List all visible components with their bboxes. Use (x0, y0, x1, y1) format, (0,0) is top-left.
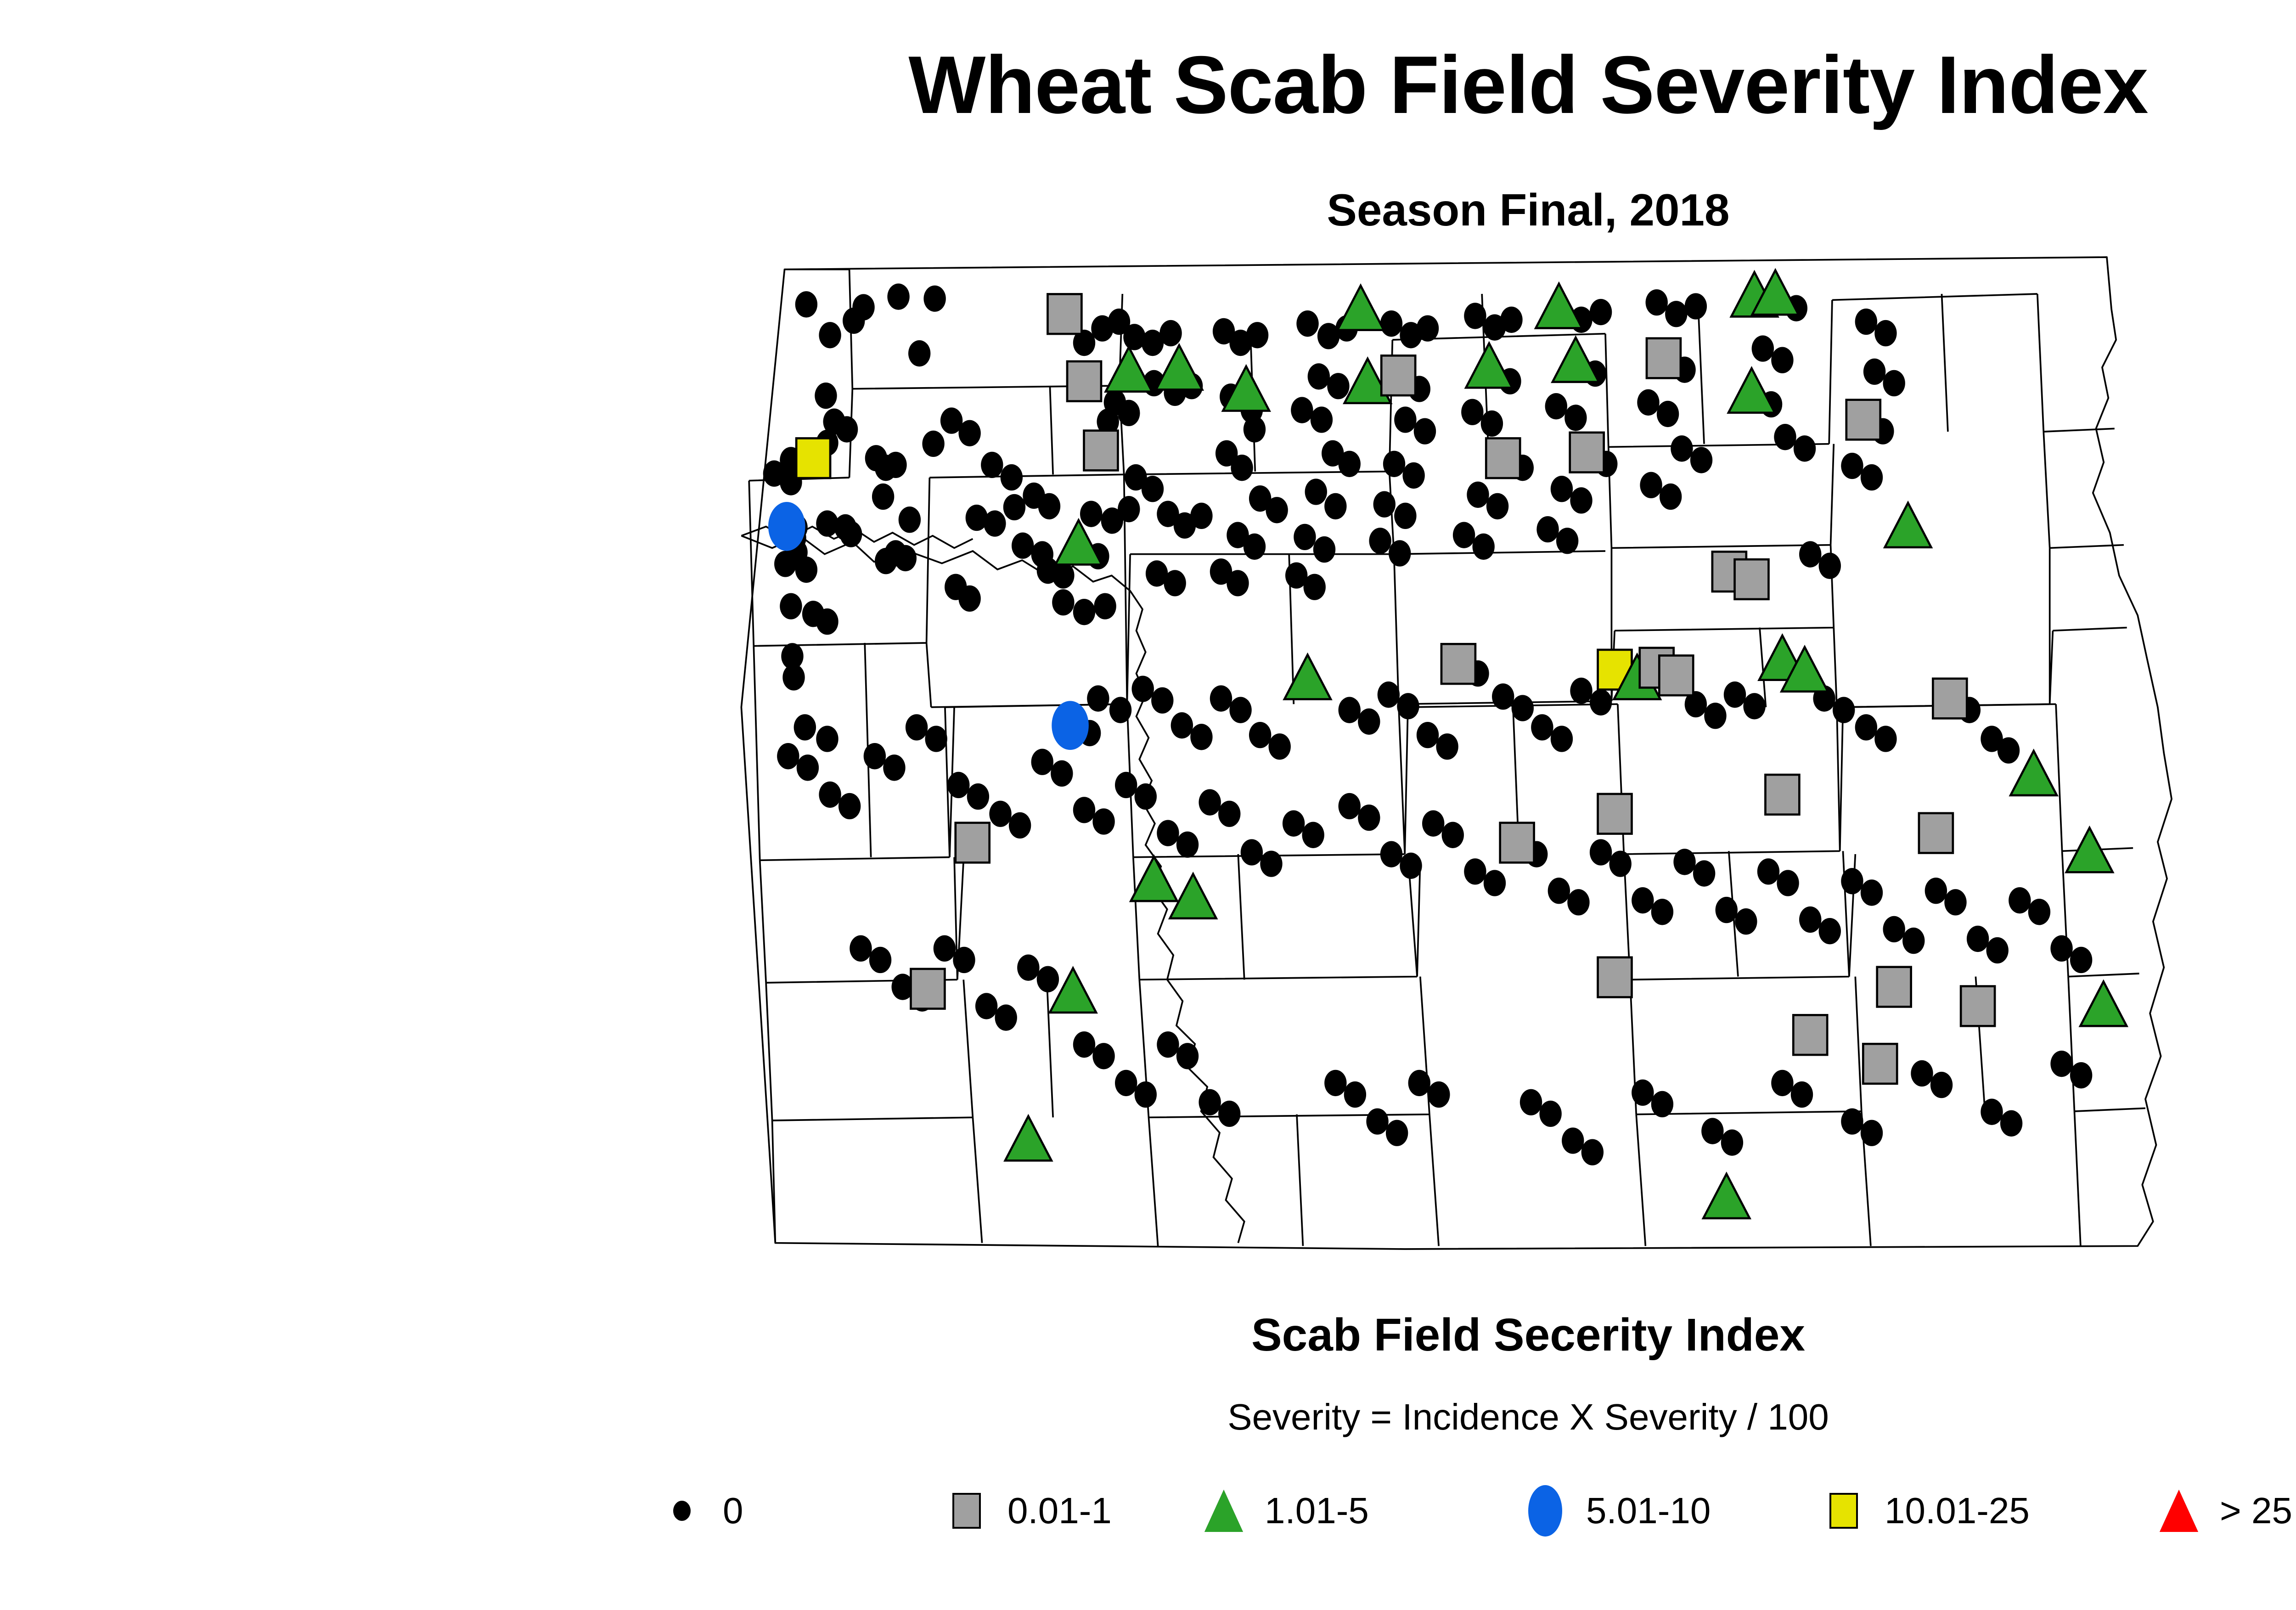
map-point-0 (1380, 841, 1402, 867)
map-point-5-01-10 (768, 502, 805, 551)
legend-item-label: 10.01-25 (1885, 1490, 2030, 1532)
map-point-0-01-1 (1047, 294, 1081, 334)
map-point-0 (958, 420, 980, 446)
map-point-0-01-1 (1500, 823, 1534, 863)
map-point-0 (1520, 1089, 1542, 1115)
map-point-1-01-5 (1170, 874, 1216, 918)
map-point-1-01-5 (1466, 343, 1512, 388)
map-point-0 (1283, 811, 1305, 837)
map-point-0 (884, 452, 906, 478)
map-point-0 (1861, 464, 1883, 490)
legend-item-2[interactable]: 1.01-5 (1194, 1474, 1369, 1548)
map-point-0 (1570, 678, 1592, 704)
map-point-0 (1092, 808, 1114, 834)
map-point-0 (1003, 494, 1025, 520)
map-point-0 (1311, 406, 1333, 433)
map-point-0 (1417, 315, 1439, 341)
map-point-0 (922, 431, 944, 457)
map-point-0-01-1 (1919, 813, 1953, 853)
map-point-0 (1246, 322, 1268, 348)
legend: 00.01-11.01-55.01-1010.01-25> 25 (652, 1474, 2296, 1552)
map-point-0 (887, 283, 909, 310)
map-point-0 (1467, 482, 1489, 508)
map-point-0 (1313, 536, 1335, 563)
map-point-0 (1564, 405, 1587, 431)
map-point-0 (1925, 878, 1947, 904)
map-point-0 (780, 593, 802, 619)
circle-small-icon (652, 1481, 712, 1541)
map-point-0 (794, 714, 816, 740)
figure-canvas: Wheat Scab Field Severity Index Season F… (0, 0, 2296, 1610)
map-point-0 (797, 754, 819, 781)
map-point-0-01-1 (1067, 361, 1101, 401)
map-point-0 (1685, 293, 1707, 319)
map-point-0 (1590, 689, 1612, 715)
map-point-0 (1227, 570, 1249, 596)
map-point-0-01-1 (1659, 655, 1693, 695)
map-point-0 (1640, 472, 1662, 498)
map-point-0 (1073, 797, 1095, 823)
map-point-0 (1244, 534, 1266, 560)
map-point-0 (1883, 370, 1905, 396)
map-point-0 (1115, 772, 1137, 798)
map-point-0-01-1 (1381, 355, 1415, 395)
map-point-0 (967, 783, 989, 810)
map-point-0 (1159, 320, 1182, 346)
legend-item-label: 0 (723, 1490, 743, 1532)
map-point-0 (1986, 937, 2008, 963)
map-point-0 (1735, 908, 1757, 934)
map-point-0 (1164, 570, 1186, 596)
map-point-0 (1548, 878, 1570, 904)
map-point-0 (850, 935, 872, 962)
legend-item-label: 5.01-10 (1586, 1490, 1711, 1532)
map-point-0 (1244, 416, 1266, 442)
map-point-0 (1673, 849, 1695, 875)
map-point-0 (1402, 462, 1424, 489)
triangle-icon (2149, 1481, 2209, 1541)
map-point-1-01-5 (1338, 286, 1384, 330)
map-point-0 (1724, 681, 1746, 708)
triangle-icon (1194, 1481, 1254, 1541)
map-point-0 (1339, 451, 1361, 477)
map-point-0 (1305, 478, 1327, 505)
map-point-0 (1646, 289, 1668, 315)
map-point-0 (1037, 966, 1059, 992)
map-point-0 (1190, 503, 1212, 529)
map-point-0 (1087, 685, 1109, 711)
map-point-0-01-1 (1598, 794, 1632, 834)
map-point-0 (1911, 1060, 1933, 1086)
map-point-0 (1249, 722, 1271, 748)
map-point-0 (2028, 899, 2050, 925)
map-point-0-01-1 (1961, 986, 1995, 1026)
map-point-0 (1218, 801, 1240, 827)
map-point-0 (1944, 889, 1966, 915)
map-point-0 (2050, 1051, 2072, 1077)
map-point-0 (1861, 1120, 1883, 1146)
map-point-1-01-5 (1005, 1116, 1052, 1161)
map-point-0 (1855, 309, 1877, 335)
map-point-0 (1358, 709, 1380, 735)
map-point-0 (1073, 599, 1095, 625)
map-point-0 (864, 743, 886, 769)
map-point-0 (1386, 1120, 1408, 1146)
map-point-0-01-1 (1441, 644, 1475, 684)
map-point-0 (1171, 712, 1193, 738)
map-point-0 (906, 714, 928, 740)
map-point-0 (1176, 1043, 1199, 1069)
map-point-0 (1551, 476, 1573, 502)
map-point-0 (1073, 1031, 1095, 1058)
map-point-0 (1009, 812, 1031, 839)
map-point-0 (1581, 1139, 1604, 1165)
map-point-0 (989, 801, 1011, 827)
map-point-0 (1324, 1070, 1346, 1096)
map-point-0 (1657, 401, 1679, 427)
map-point-0-01-1 (1846, 400, 1880, 440)
map-point-0 (1716, 897, 1738, 923)
map-point-0 (1417, 722, 1439, 748)
map-point-0 (1436, 733, 1458, 760)
legend-item-3[interactable]: 5.01-10 (1515, 1474, 1711, 1548)
map-point-0 (1486, 493, 1508, 519)
map-point-0 (1721, 1130, 1743, 1156)
map-point-0 (923, 286, 945, 312)
map-point-0 (1051, 760, 1073, 787)
map-point-0 (1296, 310, 1318, 337)
map-point-0 (1422, 811, 1444, 837)
map-point-0-01-1 (1486, 438, 1520, 478)
map-point-0 (774, 551, 796, 577)
map-point-0-01-1 (1765, 775, 1799, 815)
map-point-0 (1774, 424, 1796, 450)
map-point-0 (1080, 501, 1102, 527)
map-point-0 (1092, 1043, 1114, 1069)
map-point-0 (1151, 687, 1173, 714)
map-point-0 (1665, 301, 1687, 327)
map-point-0 (1551, 726, 1573, 752)
map-point-0 (1408, 1070, 1430, 1096)
map-point-1-01-5 (1055, 520, 1102, 565)
map-point-0 (2000, 1110, 2022, 1137)
map-point-0 (819, 782, 841, 808)
map-point-0 (1693, 860, 1715, 886)
map-point-0-01-1 (1863, 1044, 1897, 1084)
map-point-0 (838, 793, 861, 819)
map-point-0 (1863, 359, 1885, 385)
map-point-0 (981, 452, 1003, 478)
map-point-0 (1902, 928, 1925, 954)
legend-item-label: > 25 (2220, 1490, 2292, 1532)
map-point-0 (1218, 1101, 1240, 1127)
map-point-0 (947, 772, 969, 798)
map-point-0-01-1 (1570, 433, 1604, 473)
map-point-0 (1512, 695, 1534, 721)
map-point-0 (1291, 397, 1313, 423)
map-point-0 (1094, 593, 1116, 619)
map-point-0 (819, 322, 841, 348)
map-point-0 (1142, 476, 1164, 502)
map-point-0-01-1 (1735, 559, 1769, 599)
map-point-0 (1472, 534, 1494, 560)
map-point-0 (1302, 822, 1324, 848)
map-point-0 (872, 484, 894, 510)
map-point-0 (1115, 1070, 1137, 1096)
map-point-0 (1841, 868, 1863, 894)
map-point-0 (1632, 1080, 1654, 1106)
map-point-0 (1632, 887, 1654, 913)
map-point-0 (1414, 418, 1436, 444)
legend-item-0[interactable]: 0 (652, 1474, 743, 1548)
square-icon (1814, 1481, 1874, 1541)
map-point-0 (1308, 363, 1330, 389)
map-point-0 (1590, 299, 1612, 325)
map-point-0 (1389, 540, 1411, 566)
map-point-0 (1967, 926, 1989, 952)
map-point-0-01-1 (1647, 338, 1681, 378)
map-point-0 (852, 294, 874, 320)
map-point-0 (1930, 1072, 1953, 1098)
map-point-0 (1373, 491, 1396, 518)
map-point-0 (1052, 589, 1074, 615)
map-point-0 (1157, 1031, 1179, 1058)
map-point-0 (1771, 1070, 1793, 1096)
legend-item-label: 1.01-5 (1265, 1490, 1369, 1532)
map-point-0 (1671, 435, 1693, 462)
map-point-0 (1461, 399, 1483, 425)
map-point-0 (795, 557, 817, 583)
circle-icon (1515, 1481, 1575, 1541)
map-point-0 (1545, 393, 1567, 419)
map-point-0 (1052, 562, 1074, 588)
map-point-0 (1791, 1081, 1813, 1108)
page-subtitle: Season Final, 2018 (0, 187, 2296, 232)
map-point-0 (2050, 935, 2072, 962)
map-point-0 (1017, 955, 1039, 981)
map-point-0 (995, 1004, 1017, 1030)
map-point-0 (816, 608, 838, 635)
map-point-0 (1531, 714, 1553, 740)
map-point-0 (1327, 373, 1349, 399)
map-point-0 (899, 507, 921, 533)
map-point-0 (1241, 839, 1263, 865)
map-point-0 (1369, 528, 1391, 554)
map-point-1-01-5 (1284, 655, 1331, 699)
map-point-1-01-5 (1703, 1174, 1750, 1218)
map-point-0 (1199, 789, 1221, 815)
map-point-0 (1556, 528, 1578, 554)
map-point-0 (1157, 820, 1179, 846)
map-point-0 (1752, 335, 1774, 361)
map-point-0 (1757, 858, 1779, 884)
map-point-0 (1176, 832, 1199, 858)
map-point-0 (908, 340, 930, 366)
map-point-0 (1344, 1081, 1366, 1108)
map-point-0 (1366, 1108, 1388, 1134)
map-point-0 (1771, 347, 1793, 373)
map-point-0 (1269, 733, 1291, 760)
map-point-0-01-1 (1793, 1015, 1827, 1055)
map-point-0 (1210, 685, 1232, 711)
map-point-0 (1651, 1091, 1673, 1117)
map-point-0 (1874, 320, 1896, 346)
map-point-0 (1109, 697, 1131, 723)
map-point-0 (1339, 697, 1361, 723)
map-point-0 (1833, 697, 1855, 723)
map-point-0 (1799, 541, 1821, 567)
map-point-0 (1981, 1099, 2003, 1125)
map-point-0 (777, 743, 799, 769)
map-point-0-01-1 (1877, 967, 1911, 1007)
map-point-1-01-5 (1156, 345, 1202, 390)
map-point-0 (1001, 464, 1023, 490)
map-point-0 (1799, 906, 1821, 933)
map-point-0 (1819, 553, 1841, 579)
map-svg (680, 248, 2223, 1258)
map-point-0 (1570, 487, 1592, 513)
map-point-0 (1339, 793, 1361, 819)
legend-item-label: 0.01-1 (1007, 1490, 1112, 1532)
map-point-0 (1118, 496, 1140, 522)
map-point-0 (1012, 533, 1034, 559)
map-point-0 (984, 510, 1006, 536)
legend-formula: Severity = Incidence X Severity / 100 (0, 1396, 2296, 1438)
map-point-1-01-5 (2080, 982, 2127, 1026)
map-point-0 (1400, 853, 1422, 879)
map-point-0 (1794, 435, 1816, 462)
map-point-0 (1609, 850, 1631, 877)
map-point-0 (1660, 484, 1682, 510)
map-point-0 (836, 416, 858, 442)
map-point-0 (1229, 697, 1251, 723)
map-point-0 (1378, 681, 1400, 708)
map-point-0 (1394, 503, 1416, 529)
map-point-0 (1998, 737, 2020, 763)
map-point-0 (1428, 1081, 1450, 1108)
map-point-0 (869, 947, 891, 973)
map-point-0 (1304, 574, 1326, 600)
map-point-0 (1874, 726, 1896, 752)
legend-item-5[interactable]: > 25 (2149, 1474, 2292, 1548)
map-point-0 (1562, 1127, 1584, 1154)
map-point-0 (1383, 451, 1405, 477)
north-dakota-map[interactable] (680, 248, 2223, 1258)
map-point-0 (1883, 916, 1905, 942)
map-point-0 (1861, 879, 1883, 906)
map-point-0 (782, 664, 805, 690)
map-point-0 (840, 521, 862, 547)
map-point-0 (1453, 522, 1475, 548)
map-point-0-01-1 (1598, 957, 1632, 997)
map-point-0-01-1 (1084, 431, 1118, 471)
map-point-0 (1855, 714, 1877, 740)
map-point-0 (1539, 1101, 1561, 1127)
map-point-0 (1358, 805, 1380, 831)
map-point-0 (1135, 1081, 1157, 1108)
map-point-0 (795, 291, 817, 317)
map-point-10-01-25 (796, 438, 830, 478)
map-point-0 (1536, 516, 1559, 542)
map-point-0 (925, 726, 947, 752)
legend-item-4[interactable]: 10.01-25 (1814, 1474, 2030, 1548)
legend-item-1[interactable]: 0.01-1 (937, 1474, 1112, 1548)
map-point-0 (875, 548, 897, 574)
map-point-0 (1484, 870, 1506, 896)
map-point-1-01-5 (1885, 503, 1931, 547)
map-point-0 (1464, 303, 1486, 329)
map-point-0 (1777, 870, 1799, 896)
map-point-0 (1567, 889, 1589, 915)
map-point-0-01-1 (911, 969, 945, 1009)
map-point-0 (1190, 724, 1212, 750)
map-point-0 (1038, 493, 1060, 519)
map-point-0 (816, 726, 838, 752)
map-point-0 (1031, 749, 1053, 775)
map-point-0 (2009, 887, 2031, 913)
square-icon (937, 1481, 996, 1541)
map-point-1-01-5 (1728, 368, 1775, 413)
map-point-0 (1637, 389, 1659, 416)
map-point-0 (1324, 493, 1346, 519)
map-point-0 (958, 585, 980, 612)
map-point-0 (1590, 839, 1612, 865)
map-point-0 (975, 993, 997, 1019)
map-point-0 (1132, 676, 1154, 702)
map-point-0 (1819, 918, 1841, 944)
map-point-1-01-5 (1553, 338, 1599, 382)
map-point-1-01-5 (1106, 347, 1152, 392)
map-point-0 (1397, 693, 1419, 719)
map-point-0-01-1 (956, 823, 990, 863)
map-point-0 (1841, 453, 1863, 479)
map-point-0 (934, 935, 956, 962)
map-point-0 (1118, 400, 1140, 426)
map-point-0 (1266, 497, 1288, 523)
map-point-0 (1231, 455, 1253, 481)
map-point-0 (1199, 1089, 1221, 1115)
data-points-layer (763, 270, 2127, 1218)
map-point-0 (1464, 858, 1486, 884)
map-point-0 (1135, 783, 1157, 810)
map-point-0 (883, 754, 905, 781)
map-point-5-01-10 (1052, 701, 1089, 750)
map-point-0 (1442, 822, 1464, 848)
map-point-0 (1704, 703, 1726, 729)
map-point-0-01-1 (1933, 679, 1967, 719)
map-point-0 (1743, 693, 1765, 719)
map-point-1-01-5 (1536, 284, 1582, 328)
map-point-0 (1481, 411, 1503, 437)
map-point-0 (1260, 850, 1282, 877)
page-title: Wheat Scab Field Severity Index (0, 44, 2296, 126)
map-point-0 (1701, 1118, 1723, 1144)
map-point-0 (1841, 1108, 1863, 1134)
map-point-0 (2070, 947, 2092, 973)
map-point-0 (1492, 683, 1514, 709)
map-point-0 (1394, 406, 1416, 433)
map-point-0 (953, 947, 975, 973)
map-point-0 (1500, 307, 1522, 333)
map-point-0 (895, 545, 917, 571)
map-point-0 (1651, 899, 1673, 925)
map-point-0 (1294, 524, 1316, 550)
legend-title: Scab Field Secerity Index (0, 1309, 2296, 1362)
map-point-0 (1690, 447, 1712, 473)
map-point-0 (815, 383, 837, 409)
map-point-0 (2070, 1062, 2092, 1088)
map-point-1-01-5 (1131, 856, 1177, 901)
